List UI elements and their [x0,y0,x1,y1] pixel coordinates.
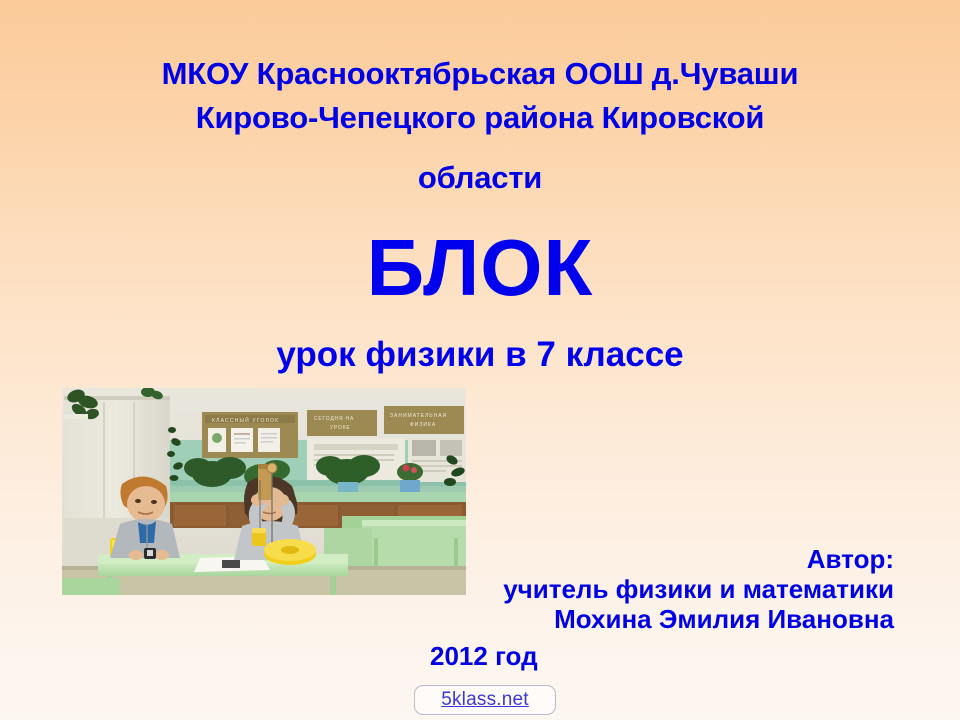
watermark-badge[interactable]: 5klass.net [414,685,556,715]
author-year: 2012 год [430,641,538,671]
school-heading-line-1: МКОУ Краснооктябрьская ООШ д.Чуваши [0,52,960,96]
author-block: Автор: учитель физики и математики Мохин… [503,544,894,634]
school-heading-line-3: области [0,156,960,200]
watermark-label: 5klass.net [441,689,529,711]
classroom-photo: КЛАССНЫЙ УГОЛОК СЕГОДНЯ НА УРОКЕ ЗАНИМАТ… [62,388,466,595]
slide-title: БЛОК [0,226,960,310]
author-role: учитель физики и математики [503,574,894,604]
slide-subtitle: урок физики в 7 классе [0,335,960,375]
svg-text:ФИЗИКА: ФИЗИКА [410,422,436,428]
svg-text:СЕГОДНЯ НА: СЕГОДНЯ НА [314,416,354,422]
svg-text:КЛАССНЫЙ УГОЛОК: КЛАССНЫЙ УГОЛОК [212,416,279,424]
school-heading-line-2: Кирово-Чепецкого района Кировской [0,96,960,140]
svg-text:УРОКЕ: УРОКЕ [330,425,351,431]
author-name: Мохина Эмилия Ивановна [503,604,894,634]
author-label: Автор: [503,544,894,574]
presentation-slide: МКОУ Краснооктябрьская ООШ д.Чуваши Киро… [0,0,960,720]
school-heading: МКОУ Краснооктябрьская ООШ д.Чуваши Киро… [0,52,960,200]
svg-text:ЗАНИМАТЕЛЬНАЯ: ЗАНИМАТЕЛЬНАЯ [390,413,447,419]
